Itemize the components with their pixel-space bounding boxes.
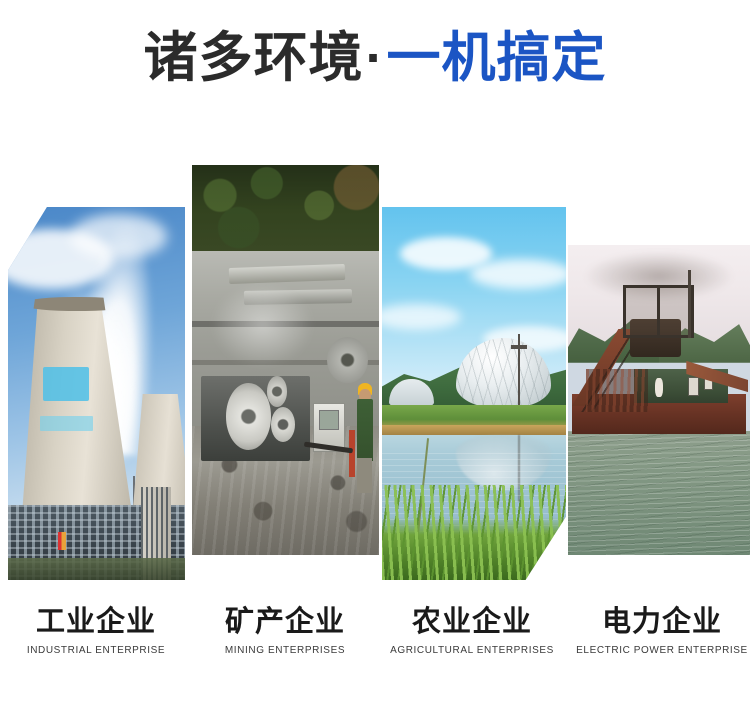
worker-legs (357, 458, 372, 493)
tower-logo-text (40, 416, 93, 431)
caption-industrial-cn: 工业企业 (2, 604, 190, 640)
caption-electric-power: 电力企业 ELECTRIC POWER ENTERPRISE (568, 604, 750, 656)
caption-agricultural-cn: 农业企业 (378, 604, 566, 640)
porthole-window (655, 378, 662, 397)
worker-body (357, 399, 374, 461)
hand-tool (349, 430, 355, 477)
panel-electric-power (568, 245, 750, 555)
cutting-saw-blade (327, 337, 368, 384)
panel-agricultural (382, 207, 566, 580)
panel-strip (0, 0, 750, 600)
panel-industrial (8, 207, 185, 580)
antenna-mast (688, 270, 691, 338)
caption-agricultural-en: AGRICULTURAL ENTERPRISES (378, 645, 566, 656)
caption-mining-en: MINING ENTERPRISES (191, 645, 379, 656)
dust-haze (211, 282, 314, 368)
promo-banner: 诸多环境·一机搞定 (0, 0, 750, 727)
caption-industrial: 工业企业 INDUSTRIAL ENTERPRISE (2, 604, 190, 656)
machine-small-wheel (271, 407, 295, 442)
agricultural-scene-image (382, 207, 566, 580)
mining-scene-image (192, 165, 379, 555)
rusted-steelwork (586, 369, 648, 412)
caption-industrial-en: INDUSTRIAL ENTERPRISE (2, 645, 190, 656)
caption-electric-power-en: ELECTRIC POWER ENTERPRISE (568, 645, 750, 656)
caption-row: 工业企业 INDUSTRIAL ENTERPRISE 矿产企业 MINING E… (0, 604, 750, 674)
electric-power-scene-image (568, 245, 750, 555)
river-water (568, 431, 750, 555)
caption-agricultural: 农业企业 AGRICULTURAL ENTERPRISES (378, 604, 566, 656)
cloud-shape (470, 259, 566, 289)
foreground-grass (382, 517, 566, 580)
caption-mining-cn: 矿产企业 (191, 604, 379, 640)
machine-large-wheel (226, 383, 271, 449)
flag-icon (58, 532, 67, 551)
industrial-scene-image (8, 207, 185, 580)
machine-wheel (267, 376, 288, 407)
steel-frame-tower (623, 285, 695, 338)
panel-mining (192, 165, 379, 555)
caption-electric-power-cn: 电力企业 (568, 604, 750, 640)
tower-logo-mark (43, 367, 89, 401)
utility-pole-crossarm (511, 345, 528, 349)
tree-line (8, 558, 185, 580)
caption-mining: 矿产企业 MINING ENTERPRISES (191, 604, 379, 656)
